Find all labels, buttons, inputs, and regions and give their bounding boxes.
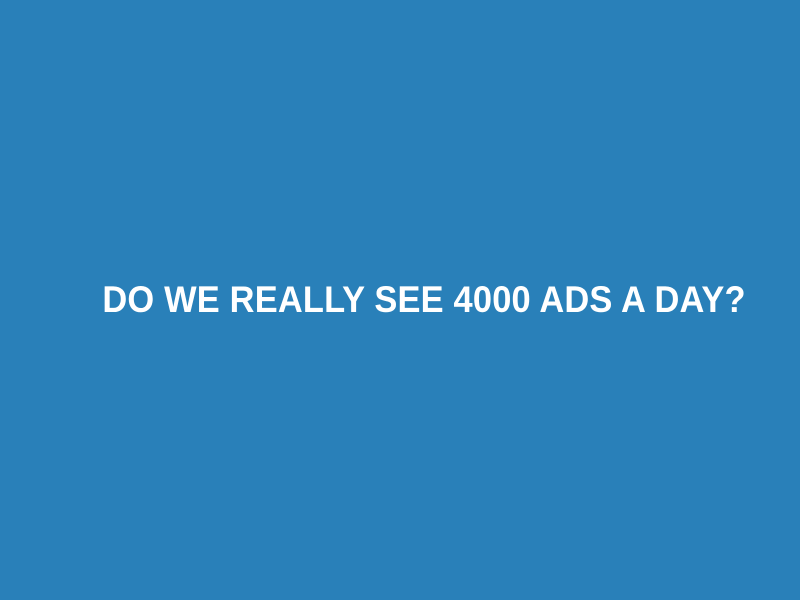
page-title: DO WE REALLY SEE 4000 ADS A DAY? [102, 278, 697, 322]
featured-image-banner: DO WE REALLY SEE 4000 ADS A DAY? [0, 0, 800, 600]
